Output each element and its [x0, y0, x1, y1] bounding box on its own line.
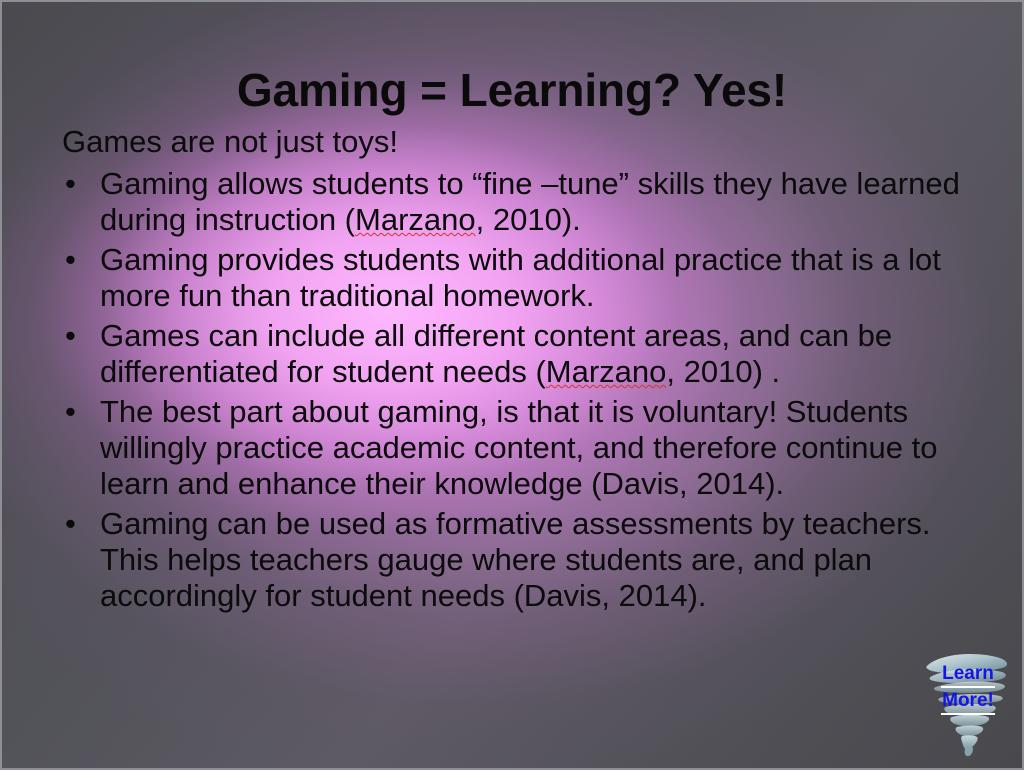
- bullet-text: Games can include all different content …: [100, 318, 892, 389]
- slide-body: Games are not just toys! •Gaming allows …: [62, 124, 974, 618]
- bullet-item: •Gaming provides students with additiona…: [62, 242, 974, 314]
- text-run: Gaming can be used as formative assessme…: [100, 506, 931, 613]
- learn-more-text: Learn More!: [922, 661, 1014, 715]
- bullet-item: •Games can include all different content…: [62, 318, 974, 390]
- bullet-list: •Gaming allows students to “fine –tune” …: [62, 166, 974, 614]
- bullet-text: Gaming allows students to “fine –tune” s…: [100, 166, 960, 237]
- bullet-marker-icon: •: [65, 394, 76, 430]
- bullet-text: Gaming can be used as formative assessme…: [100, 506, 931, 613]
- bullet-marker-icon: •: [65, 318, 76, 354]
- bullet-marker-icon: •: [65, 506, 76, 542]
- bullet-item: •The best part about gaming, is that it …: [62, 394, 974, 502]
- bullet-marker-icon: •: [65, 242, 76, 278]
- text-run: Gaming provides students with additional…: [100, 242, 941, 313]
- bullet-marker-icon: •: [65, 166, 76, 202]
- text-run: The best part about gaming, is that it i…: [100, 394, 937, 501]
- learn-more-line-2: More!: [941, 688, 995, 715]
- text-run: , 2010).: [476, 202, 581, 237]
- bullet-text: Gaming provides students with additional…: [100, 242, 941, 313]
- bullet-item: •Gaming allows students to “fine –tune” …: [62, 166, 974, 238]
- learn-more-line-1: Learn: [941, 661, 995, 688]
- misspelled-word: Marzano: [355, 202, 476, 237]
- lead-text: Games are not just toys!: [62, 124, 974, 160]
- slide: Gaming = Learning? Yes! Games are not ju…: [0, 0, 1024, 770]
- misspelled-word: Marzano: [546, 354, 667, 389]
- text-run: , 2010) .: [666, 354, 780, 389]
- learn-more-link[interactable]: Learn More!: [922, 645, 1014, 757]
- bullet-item: •Gaming can be used as formative assessm…: [62, 506, 974, 614]
- slide-title: Gaming = Learning? Yes!: [0, 61, 1024, 119]
- bullet-text: The best part about gaming, is that it i…: [100, 394, 937, 501]
